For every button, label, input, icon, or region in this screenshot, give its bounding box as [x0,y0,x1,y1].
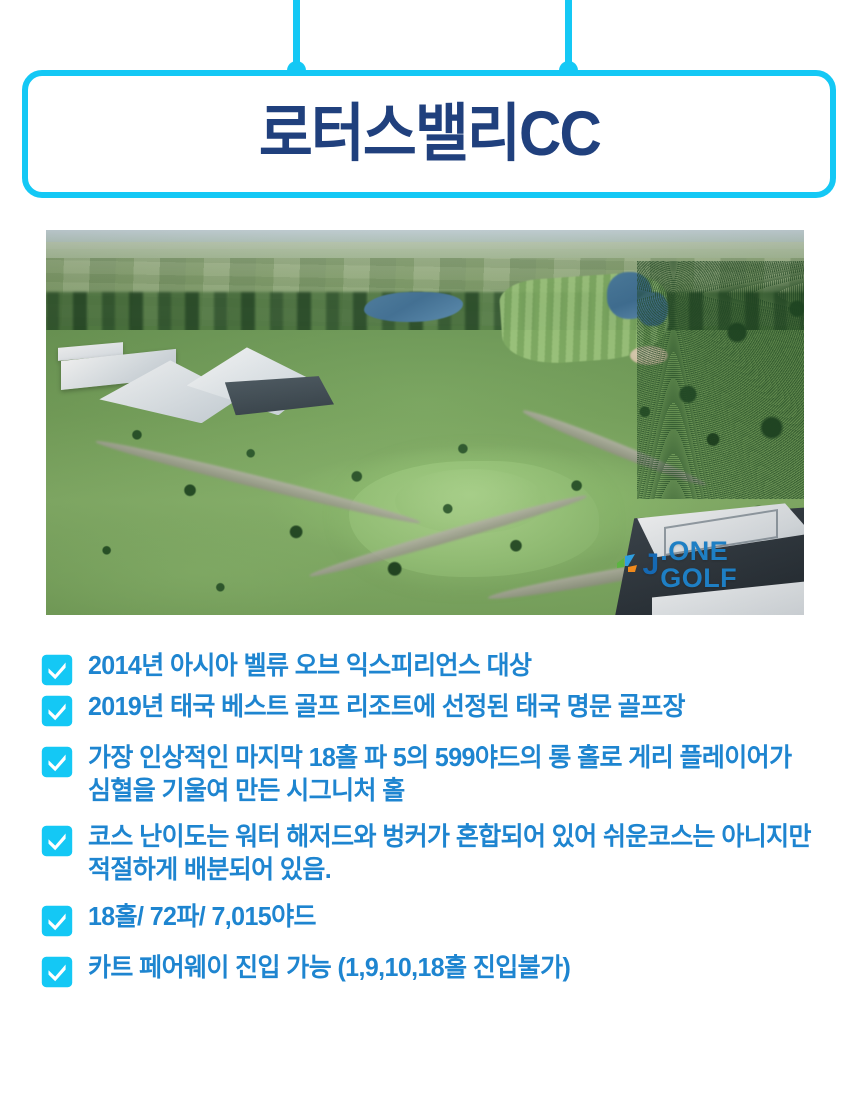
check-square-icon [40,653,74,687]
page-title: 로터스밸리CC [258,103,599,166]
list-item-label: 가장 인상적인 마지막 18홀 파 5의 599야드의 롱 홀로 게리 플레이어… [88,742,815,807]
watermark: J .ONE GOLF [615,538,805,592]
course-aerial-photo: J .ONE GOLF [46,230,804,615]
watermark-text: .ONE GOLF [660,538,804,592]
list-item-label: 18홀/ 72파/ 7,015야드 [88,901,316,934]
list-item: 코스 난이도는 워터 해저드와 벙커가 혼합되어 있어 쉬운코스는 아니지만 적… [40,821,830,886]
list-item: 2014년 아시아 벨류 오브 익스피리언스 대상 [40,650,830,687]
watermark-letter: J [643,550,660,580]
check-square-icon [40,904,74,938]
list-item-label: 코스 난이도는 워터 해저드와 벙커가 혼합되어 있어 쉬운코스는 아니지만 적… [88,821,815,886]
check-square-icon [40,745,74,779]
list-item: 18홀/ 72파/ 7,015야드 [40,901,830,938]
list-item: 2019년 태국 베스트 골프 리조트에 선정된 태국 명문 골프장 [40,691,830,728]
list-item: 가장 인상적인 마지막 18홀 파 5의 599야드의 롱 홀로 게리 플레이어… [40,742,830,807]
list-item-label: 2019년 태국 베스트 골프 리조트에 선정된 태국 명문 골프장 [88,691,685,724]
check-square-icon [40,955,74,989]
list-item-label: 카트 페어웨이 진입 가능 (1,9,10,18홀 진입불가) [88,952,570,985]
j-one-golf-logo-icon [615,554,641,576]
check-square-icon [40,694,74,728]
feature-checklist: 2014년 아시아 벨류 오브 익스피리언스 대상 2019년 태국 베스트 골… [40,650,830,993]
list-item-label: 2014년 아시아 벨류 오브 익스피리언스 대상 [88,650,531,683]
title-card: 로터스밸리CC [22,70,836,198]
list-item: 카트 페어웨이 진입 가능 (1,9,10,18홀 진입불가) [40,952,830,989]
check-square-icon [40,824,74,858]
